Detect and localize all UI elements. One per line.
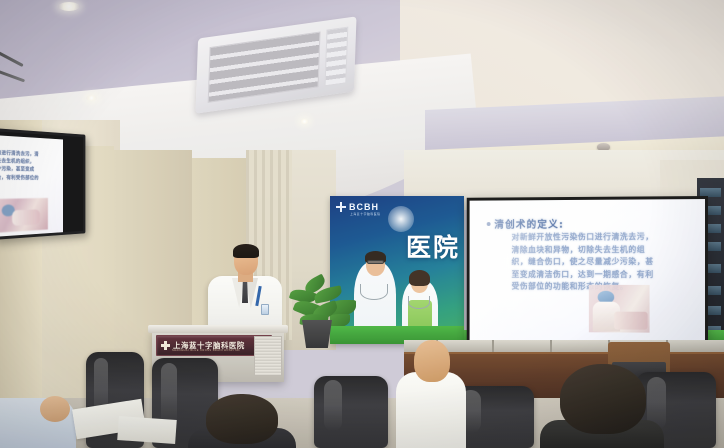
stethoscope-icon xyxy=(360,284,388,300)
banner-logo: BCBH xyxy=(336,202,379,212)
medical-cross-icon xyxy=(161,341,170,350)
audience-hand xyxy=(40,396,70,422)
audience-shoulders xyxy=(396,372,466,448)
banner-headline: 医院 xyxy=(406,228,460,264)
speaker-hair xyxy=(233,244,259,258)
monitor-screen: 口进行清洗去污，清 失去生机的组织， 少污染，甚至变成 合，有利受伤部位的 xyxy=(0,135,63,237)
screen-sheen xyxy=(470,199,705,343)
stethoscope-icon xyxy=(408,296,430,309)
projection-screen-frame: 清创术的定义: 对新鲜开放性污染伤口进行清洗去污，清除血块和异物，切除失去生机的… xyxy=(467,196,708,346)
lectern-top-surface xyxy=(148,325,288,333)
downlight-icon xyxy=(58,2,80,11)
audience-head xyxy=(414,340,450,382)
banner-logo-text: BCBH xyxy=(349,203,379,212)
id-badge xyxy=(261,304,269,315)
monitor-slide-text: 口进行清洗去污，清 失去生机的组织， 少污染，甚至变成 合，有利受伤部位的 xyxy=(0,149,61,182)
plant-pot xyxy=(300,320,334,348)
wall-mounted-monitor[interactable]: 口进行清洗去污，清 失去生机的组织， 少污染，甚至变成 合，有利受伤部位的 xyxy=(0,128,85,240)
counter-rail xyxy=(404,340,724,352)
downlight-icon xyxy=(86,95,97,101)
handout-papers xyxy=(117,416,177,444)
ac-grille xyxy=(208,31,321,102)
lectern-sign-text-en: SHANGHAI BLUE CROSS BRAIN HOSPITAL xyxy=(172,349,240,352)
lecture-hall-photo: 口进行清洗去污，清 失去生机的组织， 少污染，甚至变成 合，有利受伤部位的 BC… xyxy=(0,0,724,448)
glasses-icon xyxy=(367,260,384,264)
potted-plant xyxy=(288,276,346,348)
ac-side-vent xyxy=(325,27,349,87)
auditorium-seat xyxy=(314,376,388,448)
downlight-icon xyxy=(300,119,309,124)
banner-female-nurse-hair xyxy=(409,270,430,286)
hospital-wall-banner: BCBH 上海蓝十字脑科医院 医院 xyxy=(330,196,464,344)
lectern-speaker-grille xyxy=(254,336,282,376)
monitor-slide-photo xyxy=(0,198,48,233)
necktie xyxy=(242,279,248,303)
audience-head xyxy=(560,364,646,434)
medical-cross-icon xyxy=(336,202,346,212)
audience-head xyxy=(206,394,278,444)
projection-screen: 清创术的定义: 对新鲜开放性污染伤口进行清洗去污，清除血块和异物，切除失去生机的… xyxy=(470,199,705,343)
banner-logo-subtitle: 上海蓝十字脑科医院 xyxy=(350,212,381,216)
